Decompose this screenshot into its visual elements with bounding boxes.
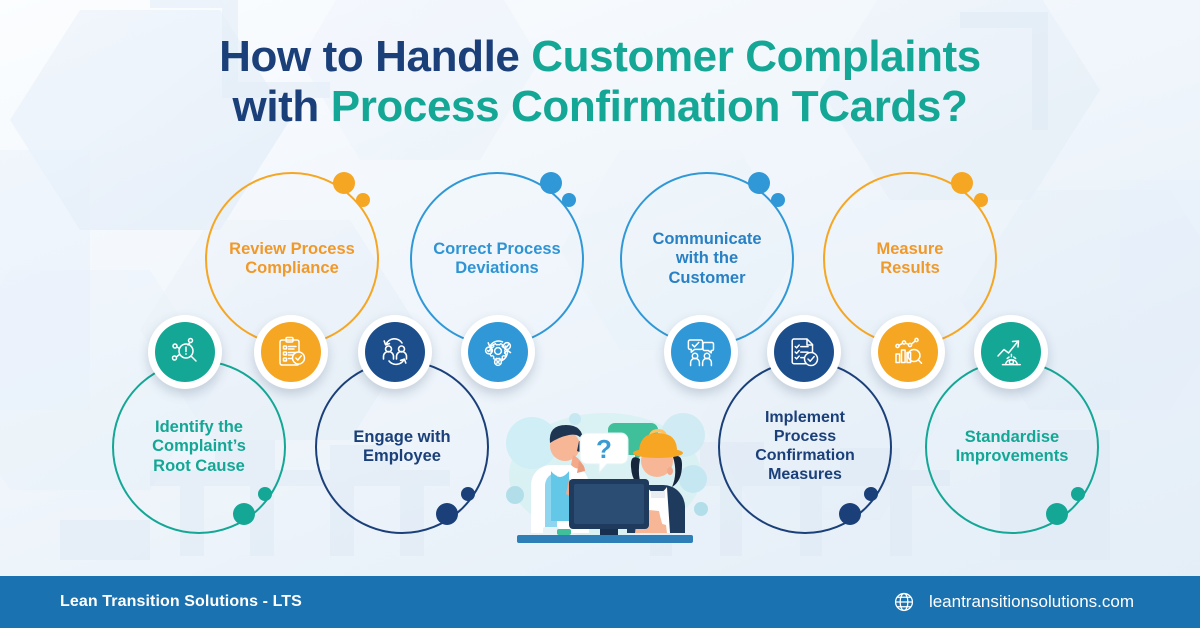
step-label: Review Process Compliance: [215, 240, 369, 279]
ring-dot-large: [1046, 503, 1068, 525]
root-cause-magnifier-icon: [168, 335, 202, 369]
infographic-canvas: How to Handle Customer Complaints with P…: [0, 0, 1200, 628]
ring-dot-large: [333, 172, 355, 194]
speech-bubble-question-mark: ?: [596, 434, 612, 464]
title-line-1-accent: Customer Complaints: [531, 32, 981, 81]
footer-website-group[interactable]: leantransitionsolutions.com: [893, 591, 1134, 613]
title-line-2-dark: with: [233, 82, 331, 131]
clipboard-checklist-icon: [274, 335, 308, 369]
ring-dot-large: [839, 503, 861, 525]
title-line-2: with Process Confirmation TCards?: [0, 82, 1200, 132]
gear-cycle-icon: [481, 335, 515, 369]
step-icon-badge-implement-process-confirmation[interactable]: [767, 315, 841, 389]
page-title: How to Handle Customer Complaints with P…: [0, 32, 1200, 132]
step-icon-badge-identify-root-cause[interactable]: [148, 315, 222, 389]
ring-dot-large: [748, 172, 770, 194]
step-label: Communicate with the Customer: [638, 230, 775, 288]
step-label: Correct Process Deviations: [419, 240, 574, 279]
globe-icon: [893, 591, 915, 613]
step-icon-badge-communicate-with-customer[interactable]: [664, 315, 738, 389]
step-label: Measure Results: [863, 240, 958, 279]
step-label: Implement Process Confirmation Measures: [741, 409, 869, 485]
ring-dot-small: [356, 193, 370, 207]
footer-website: leantransitionsolutions.com: [929, 592, 1134, 612]
title-line-1-dark: How to Handle: [219, 32, 531, 81]
step-label: Engage with Employee: [339, 428, 464, 467]
ring-dot-small: [974, 193, 988, 207]
employee-customer-computer-illustration: ?: [487, 383, 719, 543]
ring-dot-small: [258, 487, 272, 501]
step-icon-badge-correct-process-deviations[interactable]: [461, 315, 535, 389]
ring-dot-large: [540, 172, 562, 194]
step-icon-badge-review-process-compliance[interactable]: [254, 315, 328, 389]
footer-brand: Lean Transition Solutions - LTS: [60, 593, 302, 611]
step-label: Standardise Improvements: [942, 428, 1083, 467]
step-icon-badge-measure-results[interactable]: [871, 315, 945, 389]
ring-dot-small: [864, 487, 878, 501]
ring-dot-small: [562, 193, 576, 207]
ring-dot-large: [951, 172, 973, 194]
ring-dot-large: [233, 503, 255, 525]
ring-dot-small: [461, 487, 475, 501]
step-icon-badge-engage-with-employee[interactable]: [358, 315, 432, 389]
step-label: Identify the Complaint’s Root Cause: [138, 418, 260, 476]
chart-magnifier-icon: [891, 335, 925, 369]
ring-dot-small: [771, 193, 785, 207]
footer-bar: Lean Transition Solutions - LTS leantran…: [0, 576, 1200, 628]
growth-gear-icon: [994, 335, 1028, 369]
people-exchange-icon: [378, 335, 412, 369]
ring-dot-large: [436, 503, 458, 525]
title-line-1: How to Handle Customer Complaints: [0, 32, 1200, 82]
title-line-2-accent: Process Confirmation TCards?: [331, 82, 968, 131]
step-icon-badge-standardise-improvements[interactable]: [974, 315, 1048, 389]
people-chat-icon: [684, 335, 718, 369]
document-check-icon: [787, 335, 821, 369]
ring-dot-small: [1071, 487, 1085, 501]
